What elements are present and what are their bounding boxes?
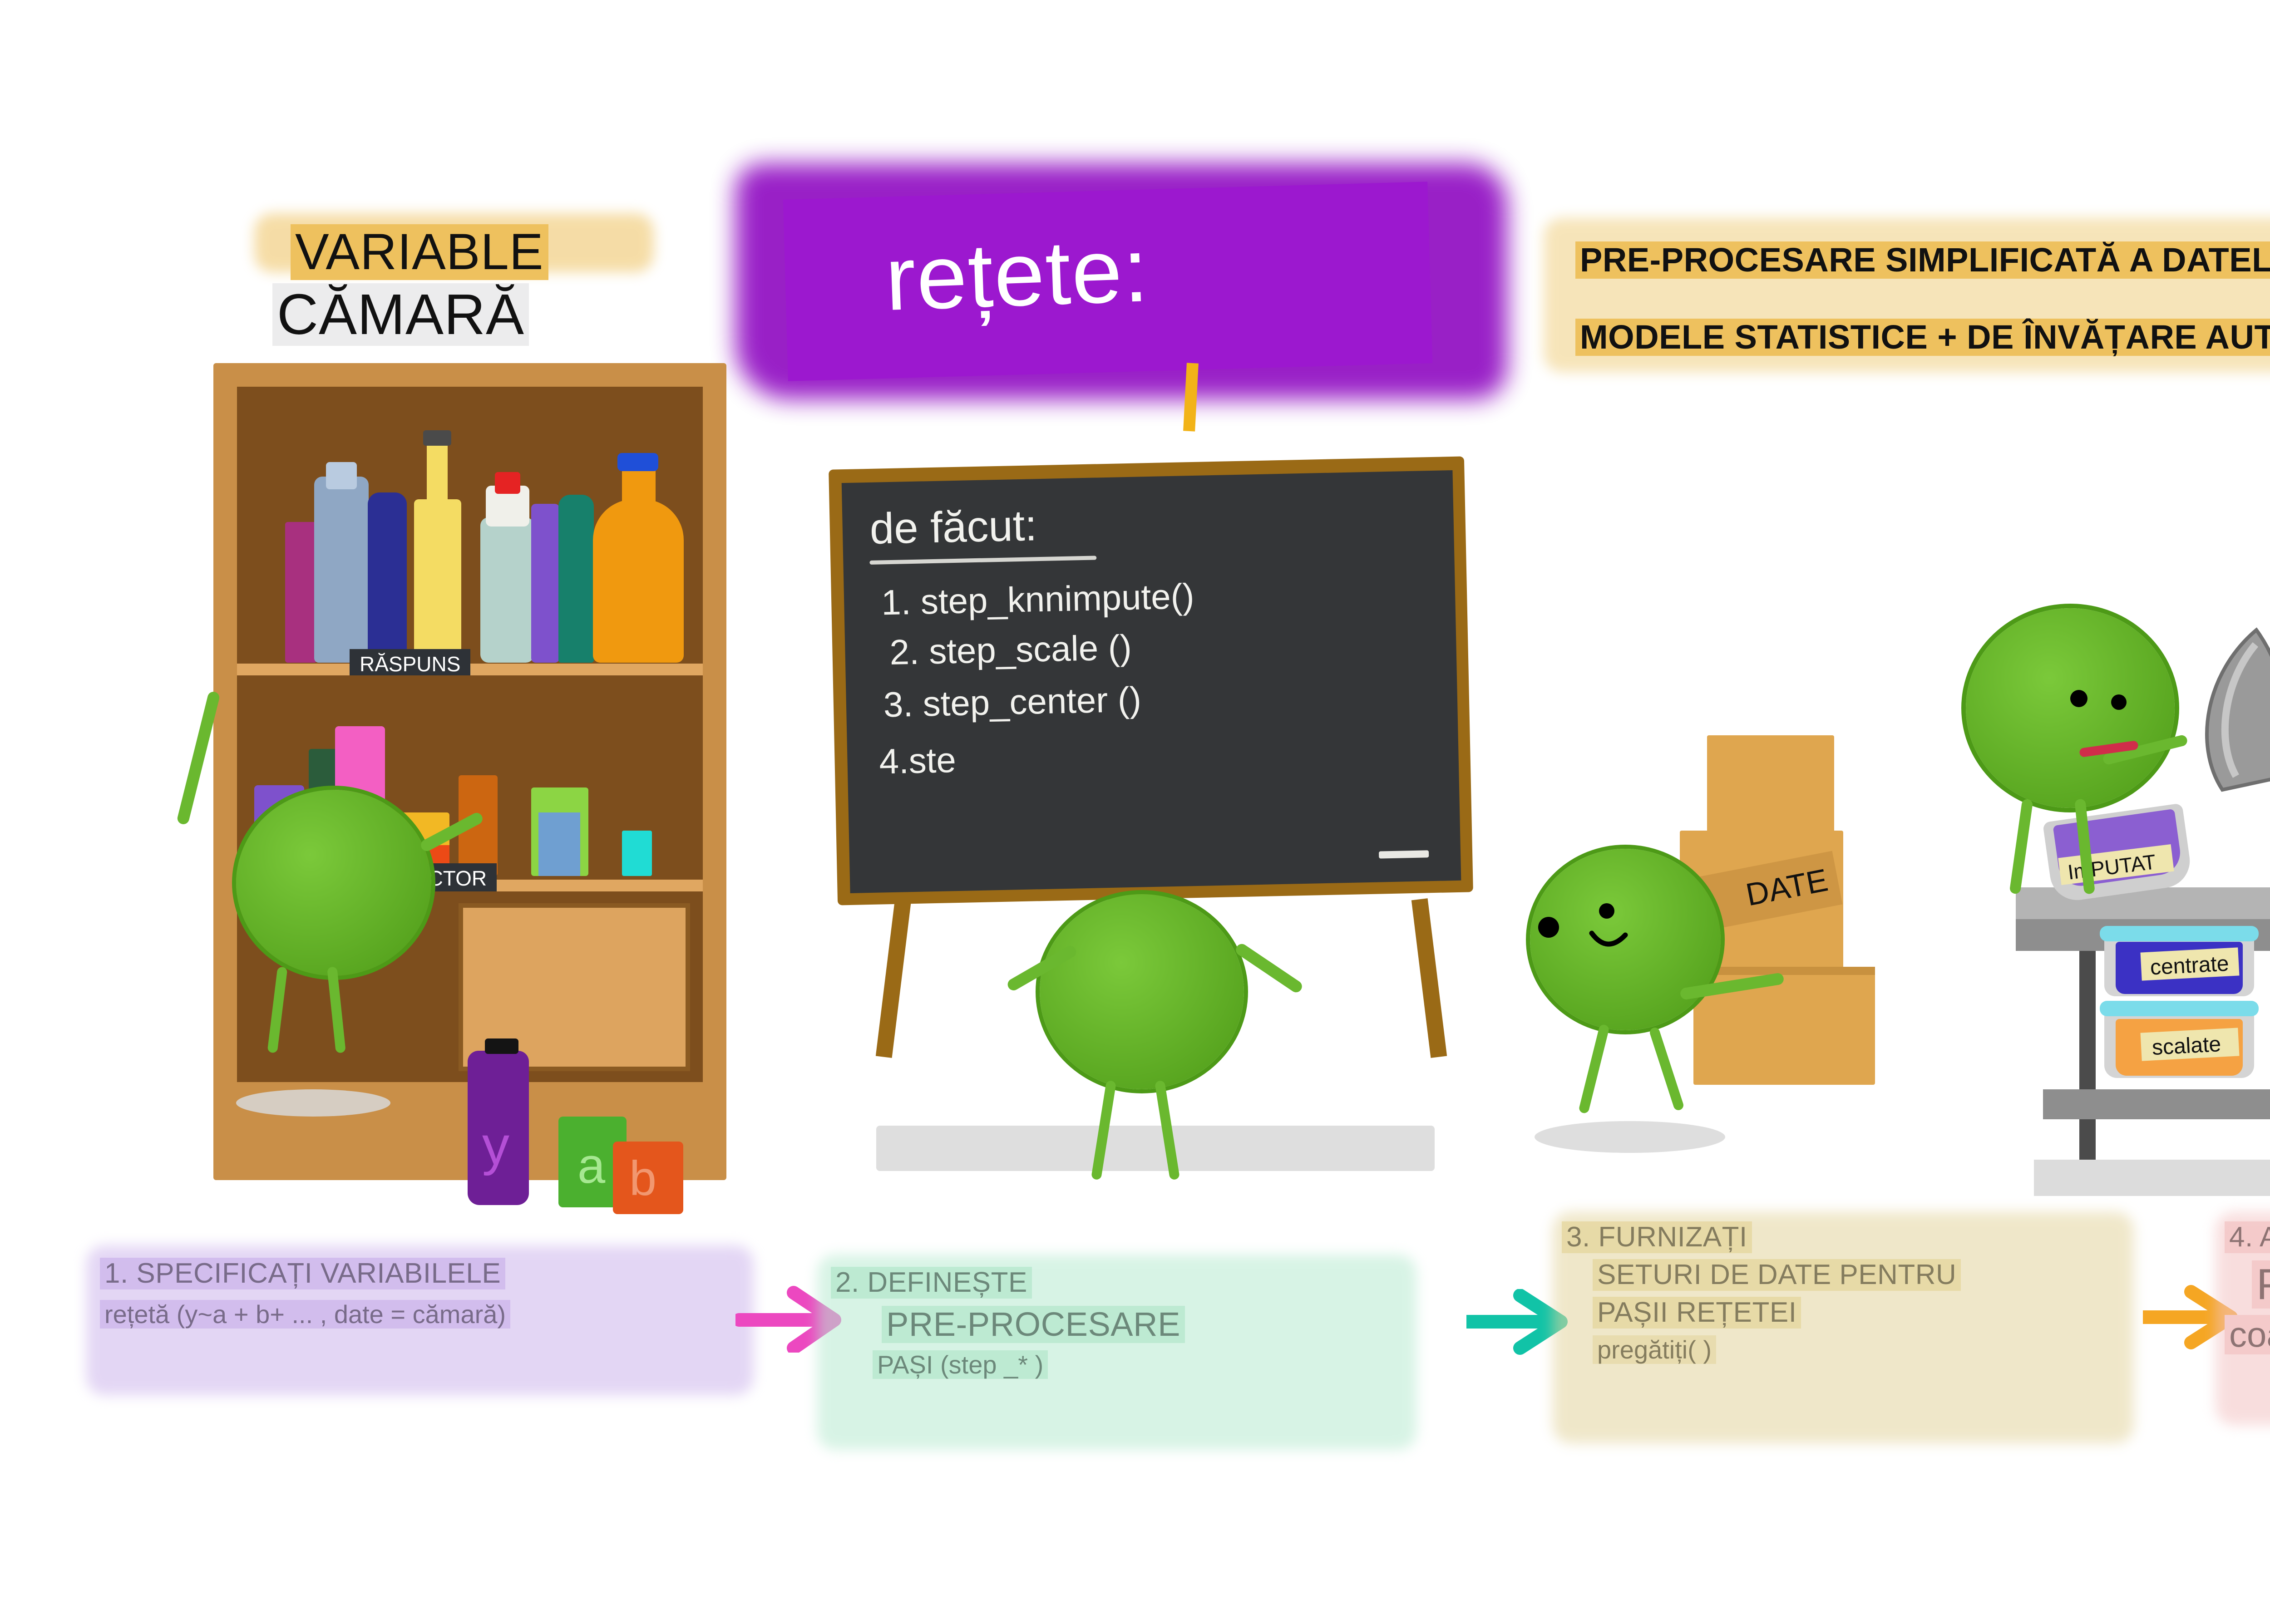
monster-leg-left xyxy=(1578,1024,1610,1114)
counter-base xyxy=(2034,1160,2270,1196)
monster-eye-right xyxy=(1599,903,1614,919)
can-cyan xyxy=(622,831,652,876)
monster-eye-left xyxy=(1538,917,1559,938)
box-top xyxy=(1707,735,1834,835)
counter-top xyxy=(2016,887,2270,919)
blackboard-step-4: 4.ste xyxy=(879,739,957,782)
page-title-variable: VARIABLE xyxy=(291,222,548,281)
bottle-yellow-cap xyxy=(423,430,451,446)
monster-shadow-delivery xyxy=(1535,1121,1725,1153)
monster-eye-right xyxy=(2111,694,2127,710)
metal-bowl-icon xyxy=(2179,626,2270,799)
bottle-orange-vase xyxy=(593,499,684,663)
blackboard-step-3: 3. step_center () xyxy=(883,679,1142,725)
monster-leg-right xyxy=(1648,1026,1685,1111)
blackboard-leg-right xyxy=(1411,898,1447,1058)
blackboard-step-2: 2. step_scale () xyxy=(889,627,1132,673)
monster-shadow-pantry xyxy=(236,1089,390,1117)
monster-arm-right xyxy=(1234,942,1304,995)
monster-body xyxy=(1040,894,1244,1089)
blackboard: de făcut: 1. step_knnimpute() 2. step_sc… xyxy=(829,456,1473,905)
monster-body xyxy=(236,790,431,976)
page-title-camara: CĂMARĂ xyxy=(272,281,529,347)
box-bottom-lip xyxy=(1693,967,1875,975)
blackboard-step-1: 1. step_knnimpute() xyxy=(881,576,1194,623)
bottle-yellow-body xyxy=(414,499,461,663)
jar-y-cap xyxy=(485,1038,518,1054)
monster-leg-left xyxy=(2009,798,2033,894)
monster-smile-icon xyxy=(1589,930,1630,958)
can-lightgreen-label xyxy=(538,812,580,876)
shelf-label-raspuns: RĂSPUNS xyxy=(350,649,470,679)
recipes-banner: rețete: xyxy=(735,163,1507,408)
bottle-magenta xyxy=(285,522,317,663)
caption-step-2: 2. DEFINEȘTE PRE-PROCESARE PAȘI (step _*… xyxy=(831,1266,1185,1379)
monster-eye-left xyxy=(2070,690,2087,707)
chalk-piece xyxy=(1379,850,1429,858)
bottle-teal xyxy=(558,495,594,663)
bin-centrate-label: centrate xyxy=(2150,951,2230,980)
bottle-violet xyxy=(531,504,559,663)
subtitle-line-1: PRE-PROCESARE SIMPLIFICATĂ A DATELOR PEN… xyxy=(1575,241,2270,279)
jar-b: b xyxy=(613,1142,683,1214)
bin-scalate-lid xyxy=(2100,1001,2259,1016)
bottle-yellow-neck xyxy=(427,440,448,508)
monster-body xyxy=(1966,608,2175,808)
blackboard-face: de făcut: 1. step_knnimpute() 2. step_sc… xyxy=(842,470,1461,893)
counter-lower-shelf xyxy=(2043,1089,2270,1119)
bottle-navy xyxy=(368,492,407,663)
bin-centrate-lid xyxy=(2100,926,2259,941)
bottle-white-cap xyxy=(495,472,520,494)
bottle-blue-jug-neck xyxy=(326,462,357,489)
blackboard-title: de făcut: xyxy=(869,501,1037,554)
banner-label: rețete: xyxy=(883,218,1151,331)
caption-step-1: 1. SPECIFICAȚI VARIABILELE rețetă (y~a +… xyxy=(100,1257,510,1329)
subtitle-line-2: MODELE STATISTICE + DE ÎNVĂȚARE AUTOMATĂ xyxy=(1575,318,2270,356)
blackboard-title-underline xyxy=(869,556,1096,564)
blackboard-shadow xyxy=(876,1126,1435,1171)
caption-step-3: 3. FURNIZAȚI SETURI DE DATE PENTRU PAȘII… xyxy=(1562,1221,1961,1364)
bottle-white-milk xyxy=(480,517,534,663)
bottle-orange-cap xyxy=(617,453,658,471)
jar-y: y xyxy=(468,1051,529,1205)
bottle-blue-jug xyxy=(314,477,369,663)
blackboard-leg-left xyxy=(876,898,911,1058)
caption-step-4: 4. APLICAȚI PRE-PROCESARE! coaceți () xyxy=(2225,1221,2270,1355)
counter-leg-left xyxy=(2079,951,2096,1169)
bin-scalate-label: scalate xyxy=(2152,1032,2222,1060)
